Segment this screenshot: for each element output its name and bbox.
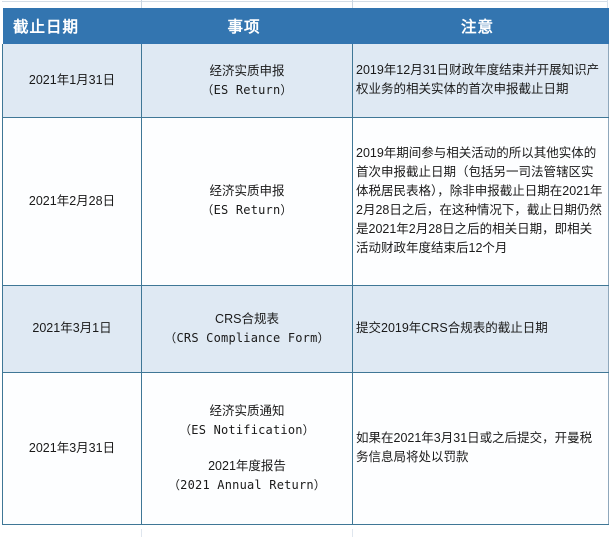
item-label-en-secondary: （2021 Annual Return）	[144, 476, 350, 494]
bottom-cutoff-divider-1	[141, 529, 142, 537]
cell-note: 2019年12月31日财政年度结束并开展知识产权业务的相关实体的首次申报截止日期	[353, 44, 609, 117]
deadlines-table: 截止日期 事项 注意 2021年1月31日 经济实质申报 （ES Return）…	[2, 8, 609, 525]
cell-deadline-date: 2021年2月28日	[3, 117, 142, 285]
cell-note: 如果在2021年3月31日或之后提交，开曼税务信息局将处以罚款	[353, 372, 609, 524]
item-label-spacer	[144, 439, 350, 457]
item-label-cn-secondary: 2021年度报告	[144, 457, 350, 476]
table-row: 2021年1月31日 经济实质申报 （ES Return） 2019年12月31…	[3, 44, 609, 117]
item-label-en: （ES Notification）	[144, 421, 350, 439]
cell-item: CRS合规表 （CRS Compliance Form）	[142, 285, 353, 372]
cell-item: 经济实质通知 （ES Notification） 2021年度报告 （2021 …	[142, 372, 353, 524]
item-label-cn: CRS合规表	[144, 310, 350, 329]
cell-deadline-date: 2021年1月31日	[3, 44, 142, 117]
item-label-cn: 经济实质申报	[144, 182, 350, 201]
column-header-note: 注意	[353, 8, 609, 44]
cell-note: 提交2019年CRS合规表的截止日期	[353, 285, 609, 372]
column-header-deadline-date: 截止日期	[3, 8, 142, 44]
cell-note: 2019年期间参与相关活动的所以其他实体的首次申报截止日期（包括另一司法管辖区实…	[353, 117, 609, 285]
column-header-item: 事项	[142, 8, 353, 44]
cell-deadline-date: 2021年3月31日	[3, 372, 142, 524]
top-cutoff-rule	[2, 1, 607, 2]
spreadsheet-table-screenshot: 截止日期 事项 注意 2021年1月31日 经济实质申报 （ES Return）…	[0, 0, 615, 537]
item-label-en: （CRS Compliance Form）	[144, 329, 350, 347]
item-label-cn: 经济实质申报	[144, 62, 350, 81]
item-label-en: （ES Return）	[144, 81, 350, 99]
top-cutoff-divider-right	[607, 0, 608, 8]
table-row: 2021年2月28日 经济实质申报 （ES Return） 2019年期间参与相…	[3, 117, 609, 285]
cell-item: 经济实质申报 （ES Return）	[142, 117, 353, 285]
top-cutoff-divider-2	[352, 0, 353, 8]
table-row: 2021年3月31日 经济实质通知 （ES Notification） 2021…	[3, 372, 609, 524]
cell-item: 经济实质申报 （ES Return）	[142, 44, 353, 117]
item-label-cn: 经济实质通知	[144, 402, 350, 421]
table-header-row: 截止日期 事项 注意	[3, 8, 609, 44]
top-cutoff-divider-1	[141, 0, 142, 8]
bottom-cutoff-row-sliver	[2, 529, 608, 537]
bottom-cutoff-divider-2	[352, 529, 353, 537]
table-row: 2021年3月1日 CRS合规表 （CRS Compliance Form） 提…	[3, 285, 609, 372]
item-label-en: （ES Return）	[144, 201, 350, 219]
top-cutoff-row-sliver	[0, 0, 615, 8]
cell-deadline-date: 2021年3月1日	[3, 285, 142, 372]
